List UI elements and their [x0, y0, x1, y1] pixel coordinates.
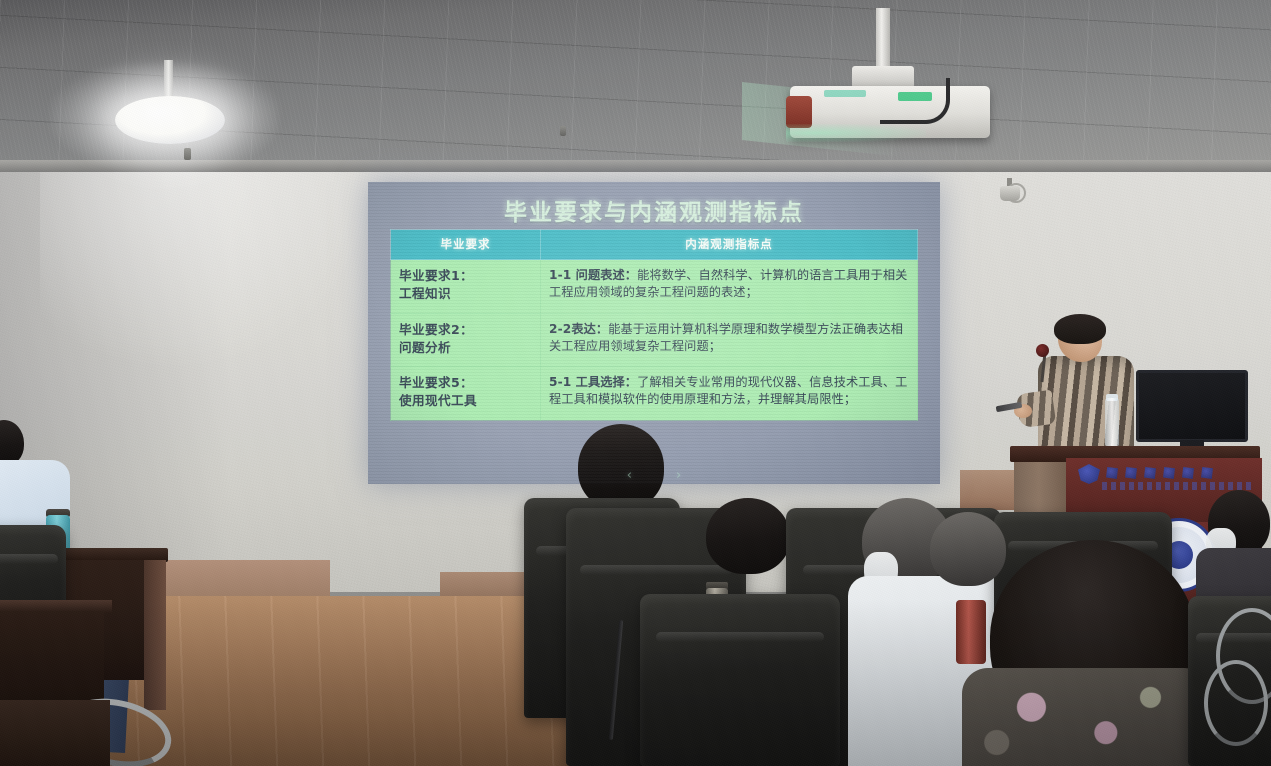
- water-bottle-icon: [1105, 398, 1119, 446]
- glyph: [1144, 467, 1156, 479]
- desk-side-panel: [144, 560, 166, 710]
- column-header-requirement: 毕业要求: [391, 230, 541, 260]
- chevron-right-icon[interactable]: ›: [676, 468, 681, 483]
- ceiling-light-icon: [115, 96, 225, 144]
- chevron-left-icon[interactable]: ‹: [627, 468, 632, 483]
- table-row: 毕业要求5： 使用现代工具 5-1 工具选择：了解相关专业常用的现代仪器、信息技…: [391, 367, 918, 421]
- podium-chinese-name: [1106, 466, 1246, 480]
- chair-center-c: [640, 594, 840, 766]
- attendee-floral-top: [962, 668, 1210, 766]
- red-cup-icon: [956, 600, 986, 664]
- glyph: [1201, 467, 1213, 479]
- attendee-grey-head: [930, 512, 1006, 586]
- requirement-number: 毕业要求2：: [399, 321, 532, 339]
- projector-light-spill: [786, 124, 926, 142]
- cell-indicator: 2-2表达：能基于运用计算机科学原理和数学模型方法正确表达相关工程应用领域复杂工…: [541, 313, 918, 367]
- table-row: 毕业要求2： 问题分析 2-2表达：能基于运用计算机科学原理和数学模型方法正确表…: [391, 313, 918, 367]
- cell-indicator: 1-1 问题表述：能将数学、自然科学、计算机的语言工具用于相关工程应用领域的复杂…: [541, 260, 918, 314]
- slide-title: 毕业要求与内涵观测指标点: [368, 193, 940, 227]
- cell-requirement: 毕业要求2： 问题分析: [391, 313, 541, 367]
- glyph: [1106, 467, 1118, 479]
- requirement-name: 使用现代工具: [399, 392, 532, 410]
- requirement-number: 毕业要求1：: [399, 267, 532, 285]
- requirement-name: 问题分析: [399, 339, 532, 357]
- glyph: [1163, 467, 1175, 479]
- column-header-indicator: 内涵观测指标点: [541, 230, 918, 260]
- requirement-number: 毕业要求5：: [399, 374, 532, 392]
- cell-requirement: 毕业要求5： 使用现代工具: [391, 367, 541, 421]
- requirement-name: 工程知识: [399, 285, 532, 303]
- indicator-code: 2-2表达：: [549, 322, 608, 336]
- table-header-row: 毕业要求 内涵观测指标点: [391, 230, 918, 260]
- podium-english-name: [1102, 482, 1254, 490]
- attendee-boy-front-head: [706, 498, 790, 574]
- chair-armrest-rail: [1204, 660, 1268, 746]
- podium-monitor: [1136, 370, 1248, 442]
- projector-cable: [880, 78, 950, 124]
- indicator-code: 1-1 问题表述：: [549, 268, 637, 282]
- sprinkler-head-icon: [184, 148, 191, 160]
- lecture-hall-photo: 毕业要求与内涵观测指标点 毕业要求 内涵观测指标点 毕业要求1： 工程知识 1-…: [0, 0, 1271, 766]
- sprinkler-head-icon: [560, 126, 566, 136]
- graduation-requirements-table: 毕业要求 内涵观测指标点 毕业要求1： 工程知识 1-1 问题表述：能将数学、自…: [390, 229, 918, 421]
- glyph: [1125, 467, 1137, 479]
- glyph: [1182, 467, 1194, 479]
- microphone-icon: [1036, 344, 1049, 357]
- desk-body: [0, 611, 104, 711]
- presenter-hair: [1054, 314, 1106, 344]
- cell-indicator: 5-1 工具选择：了解相关专业常用的现代仪器、信息技术工具、工程工具和模拟软件的…: [541, 367, 918, 421]
- cell-requirement: 毕业要求1： 工程知识: [391, 260, 541, 314]
- indicator-code: 5-1 工具选择：: [549, 375, 637, 389]
- slide-navigation[interactable]: ‹ ›: [368, 468, 940, 483]
- projector-panel-accent: [824, 90, 866, 97]
- desk-body: [0, 700, 110, 766]
- table-row: 毕业要求1： 工程知识 1-1 问题表述：能将数学、自然科学、计算机的语言工具用…: [391, 260, 918, 314]
- security-camera-icon: [1000, 186, 1020, 201]
- wall-light-glow: [40, 172, 380, 372]
- projector-mount-pole: [876, 8, 890, 70]
